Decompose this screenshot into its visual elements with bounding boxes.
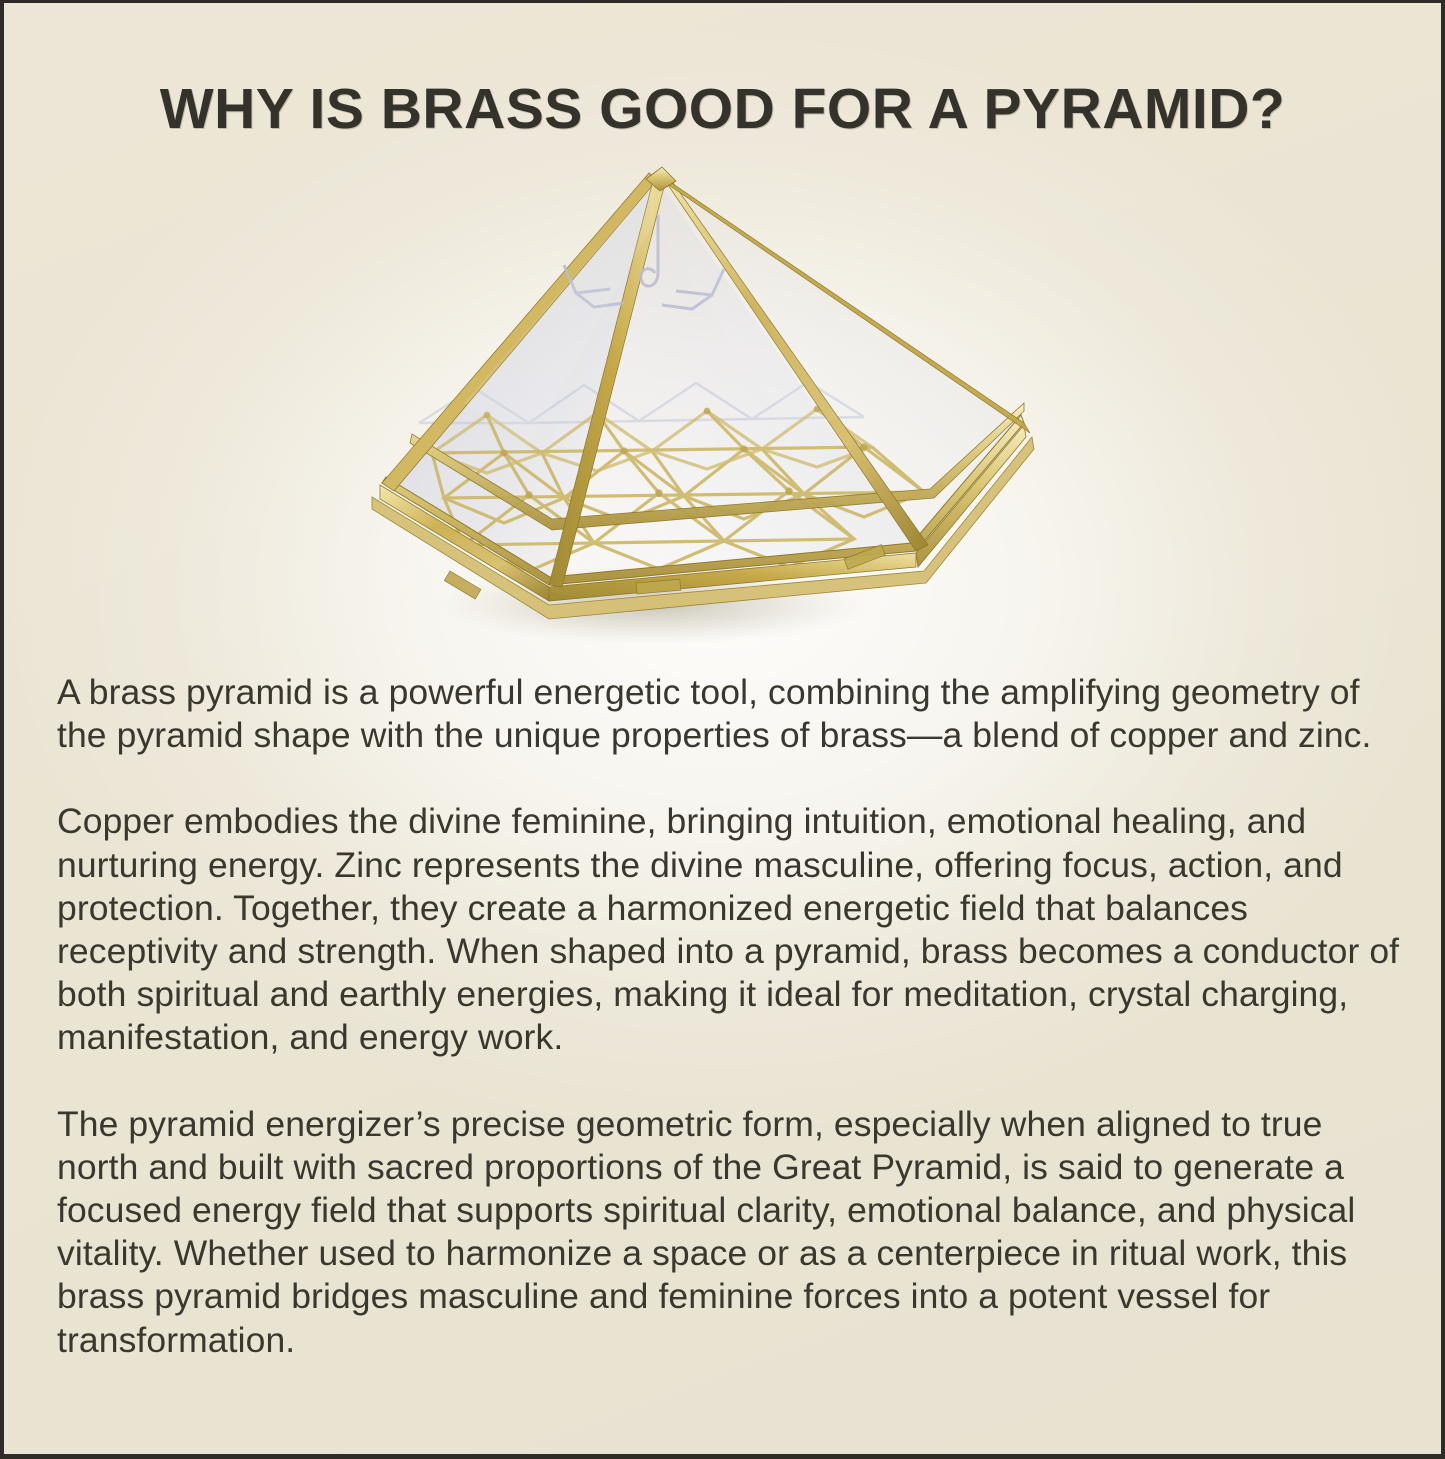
pyramid-energizer-image: [324, 153, 1084, 653]
paragraph-2: Copper embodies the divine feminine, bri…: [57, 800, 1402, 1059]
paragraph-1: A brass pyramid is a powerful energetic …: [57, 671, 1402, 757]
paragraph-3: The pyramid energizer’s precise geometri…: [57, 1103, 1402, 1362]
poster-card: WHY IS BRASS GOOD FOR A PYRAMID?: [4, 3, 1441, 1454]
body-copy: A brass pyramid is a powerful energetic …: [57, 671, 1402, 1362]
pyramid-illustration: [324, 153, 1084, 653]
page-title: WHY IS BRASS GOOD FOR A PYRAMID?: [4, 81, 1441, 138]
